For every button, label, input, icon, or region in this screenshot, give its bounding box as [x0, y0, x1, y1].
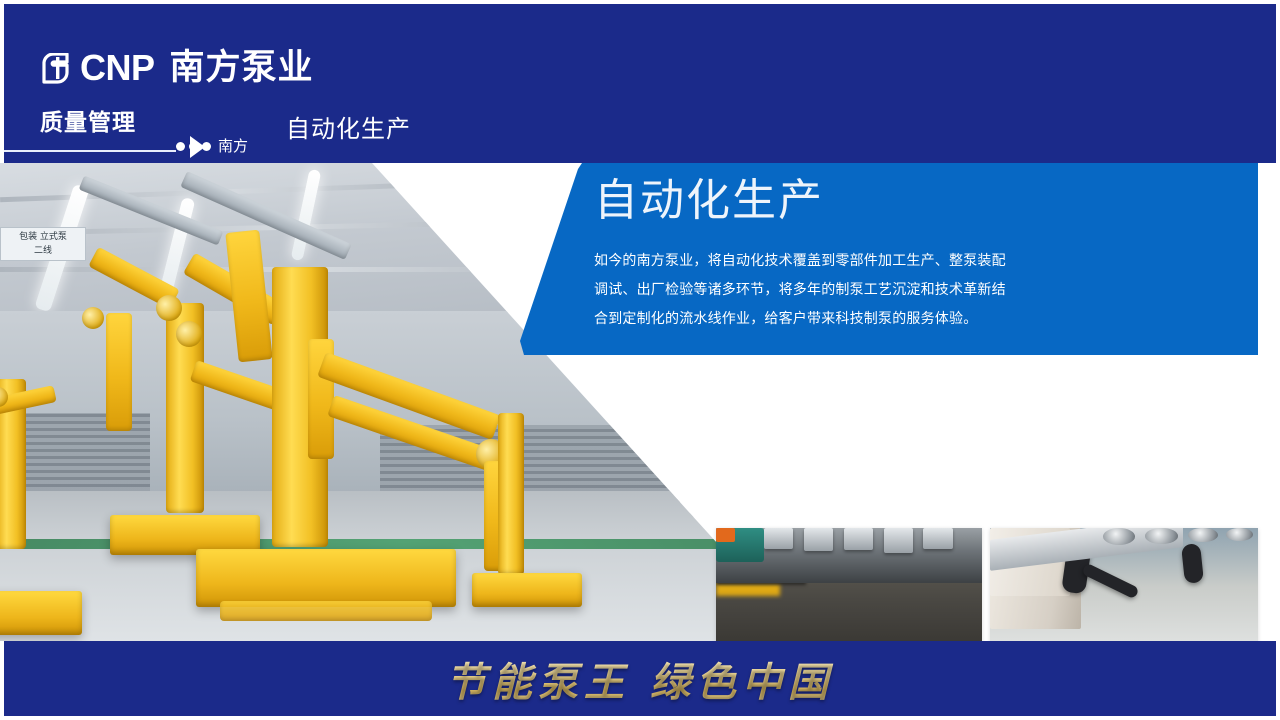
panel-body: 如今的南方泵业，将自动化技术覆盖到零部件加工生产、整泵装配 调试、出厂检验等诸多…: [594, 247, 1159, 334]
panel-body-line-3: 合到定制化的流水线作业，给客户带来科技制泵的服务体验。: [594, 305, 1159, 334]
photo-gallery: [0, 326, 1280, 641]
breadcrumb-sub-label: 南方: [218, 139, 248, 154]
photo-assembly-line: [716, 528, 982, 641]
nav-current-label[interactable]: 自动化生产: [286, 117, 411, 141]
slide-body: 包装 立式泵二线: [0, 163, 1280, 641]
brand-abbr-text: CNP: [80, 50, 155, 86]
cnp-logo-mark-icon: [40, 53, 71, 84]
nav-rule-divider: [4, 150, 176, 152]
section-title: 质量管理: [40, 112, 136, 135]
slide-root: CNP 南方泵业 质量管理 南方 自动化生产: [0, 0, 1280, 720]
slide-header: CNP 南方泵业 质量管理 南方 自动化生产: [0, 0, 1280, 163]
play-triangle-icon: [190, 136, 205, 158]
photo-robot-conveyor: [990, 528, 1258, 641]
content-panel: 自动化生产 如今的南方泵业，将自动化技术覆盖到零部件加工生产、整泵装配 调试、出…: [520, 163, 1258, 355]
panel-title: 自动化生产: [594, 177, 1214, 225]
panel-body-line-2: 调试、出厂检验等诸多环节，将多年的制泵工艺沉淀和技术革新结: [594, 276, 1159, 305]
slide-footer: 节能泵王 绿色中国: [0, 641, 1280, 720]
brand-cn-text: 南方泵业: [170, 51, 314, 86]
brand-logo[interactable]: CNP 南方泵业: [40, 50, 314, 86]
dot-1: [176, 142, 185, 151]
panel-body-line-1: 如今的南方泵业，将自动化技术覆盖到零部件加工生产、整泵装配: [594, 247, 1159, 276]
footer-slogan: 节能泵王 绿色中国: [4, 650, 1276, 708]
